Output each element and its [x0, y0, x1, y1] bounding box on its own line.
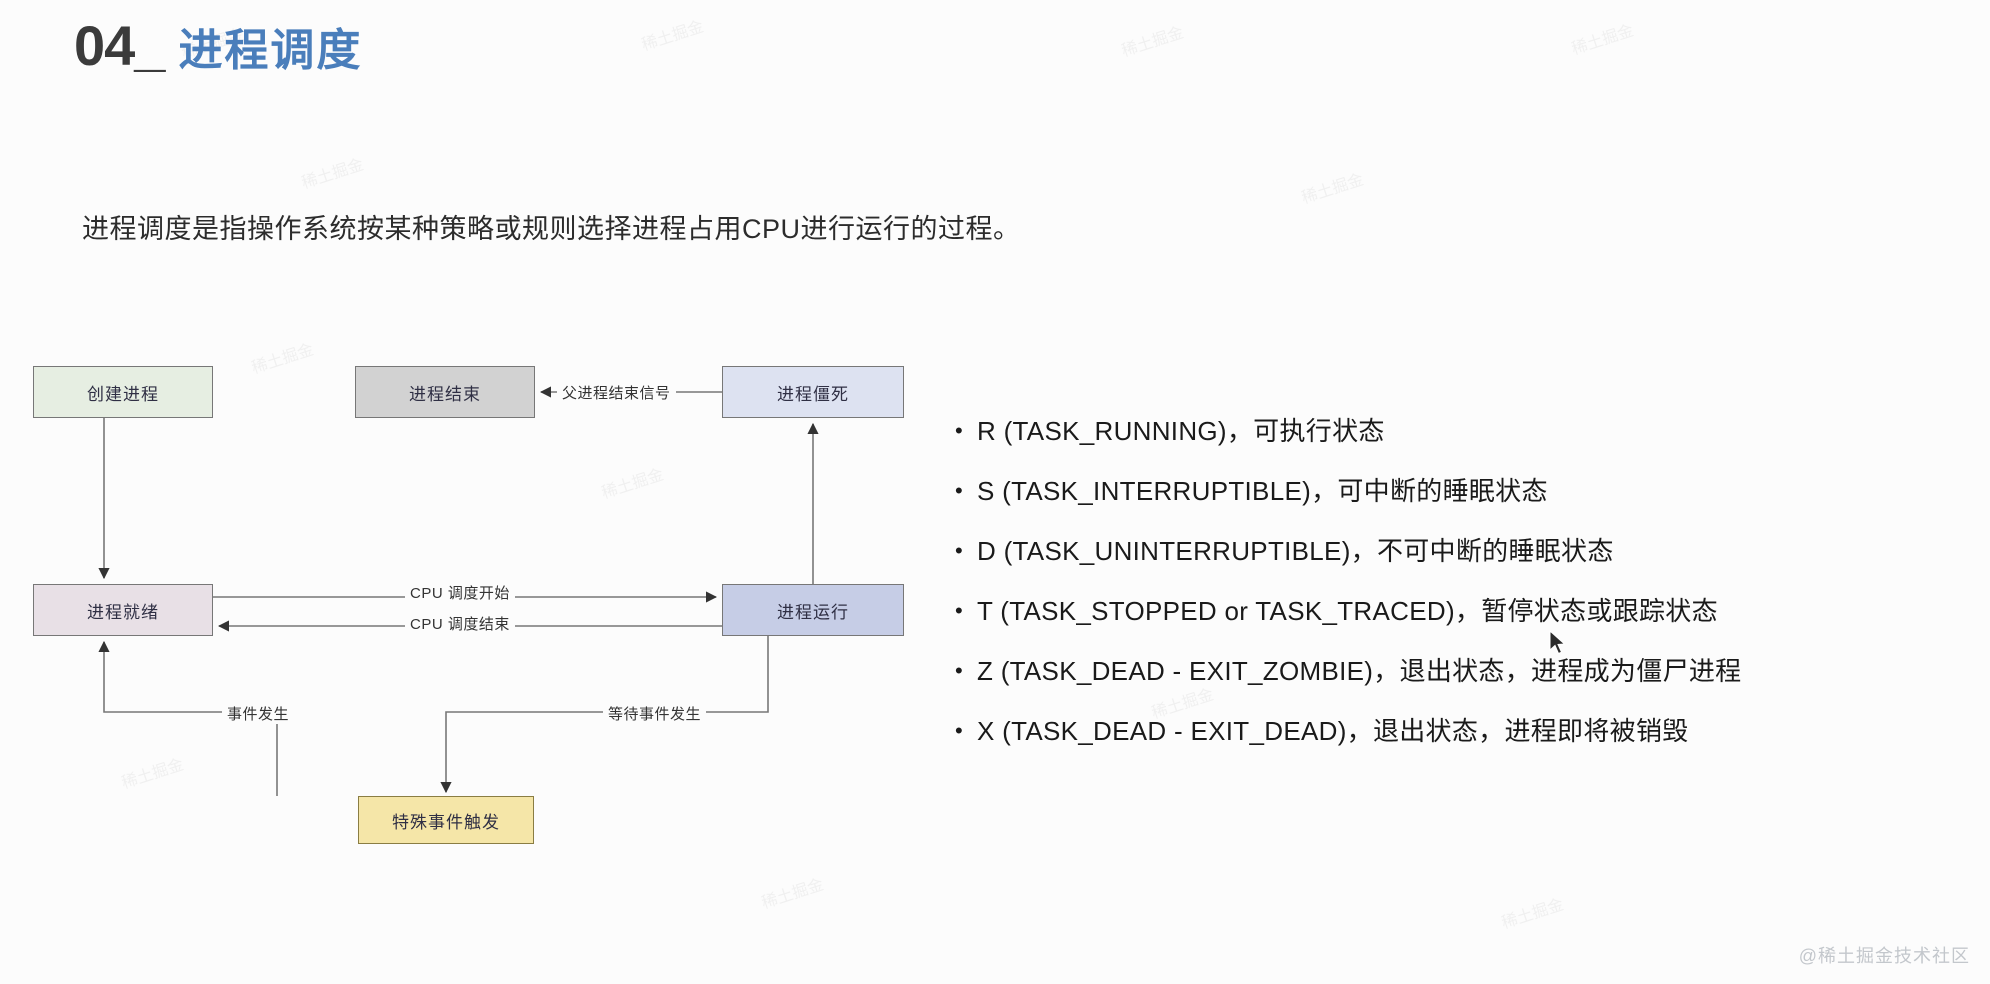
list-item: • S (TASK_INTERRUPTIBLE)，可中断的睡眠状态 — [955, 475, 1965, 507]
node-process-end[interactable]: 进程结束 — [355, 366, 535, 418]
bullet-dot-icon: • — [955, 415, 977, 447]
node-process-ready[interactable]: 进程就绪 — [33, 584, 213, 636]
list-item-label: R (TASK_RUNNING)，可执行状态 — [977, 415, 1385, 447]
edge-label-parent-exit-signal: 父进程结束信号 — [557, 382, 676, 403]
list-item-label: X (TASK_DEAD - EXIT_DEAD)，退出状态，进程即将被销毁 — [977, 715, 1689, 747]
list-item: • R (TASK_RUNNING)，可执行状态 — [955, 415, 1965, 447]
process-state-diagram: 创建进程 进程结束 进程僵死 进程就绪 进程运行 特殊事件触发 父进程结束信号 … — [0, 0, 960, 900]
edge-label-wait-event: 等待事件发生 — [603, 703, 706, 724]
diagram-connectors — [0, 0, 960, 900]
bullet-dot-icon: • — [955, 715, 977, 747]
list-item: • T (TASK_STOPPED or TASK_TRACED)，暂停状态或跟… — [955, 595, 1965, 627]
bullet-dot-icon: • — [955, 475, 977, 507]
node-create-process[interactable]: 创建进程 — [33, 366, 213, 418]
bullet-dot-icon: • — [955, 535, 977, 567]
process-state-list: • R (TASK_RUNNING)，可执行状态 • S (TASK_INTER… — [955, 415, 1965, 775]
bullet-dot-icon: • — [955, 595, 977, 627]
list-item: • Z (TASK_DEAD - EXIT_ZOMBIE)，退出状态，进程成为僵… — [955, 655, 1965, 687]
list-item-label: D (TASK_UNINTERRUPTIBLE)，不可中断的睡眠状态 — [977, 535, 1614, 567]
list-item: • X (TASK_DEAD - EXIT_DEAD)，退出状态，进程即将被销毁 — [955, 715, 1965, 747]
slide-canvas: 稀土掘金 稀土掘金 稀土掘金 稀土掘金 稀土掘金 稀土掘金 稀土掘金 稀土掘金 … — [0, 0, 1990, 984]
edge-label-event-happens: 事件发生 — [222, 703, 294, 724]
list-item-label: T (TASK_STOPPED or TASK_TRACED)，暂停状态或跟踪状… — [977, 595, 1718, 627]
watermark-tile: 稀土掘金 — [1498, 891, 1566, 934]
node-process-running[interactable]: 进程运行 — [722, 584, 904, 636]
node-process-zombie[interactable]: 进程僵死 — [722, 366, 904, 418]
list-item-label: Z (TASK_DEAD - EXIT_ZOMBIE)，退出状态，进程成为僵尸进… — [977, 655, 1741, 687]
watermark-tile: 稀土掘金 — [1568, 17, 1636, 60]
watermark-tile: 稀土掘金 — [1298, 166, 1366, 209]
edge-label-cpu-schedule-start: CPU 调度开始 — [405, 582, 515, 603]
list-item-label: S (TASK_INTERRUPTIBLE)，可中断的睡眠状态 — [977, 475, 1548, 507]
node-special-event[interactable]: 特殊事件触发 — [358, 796, 534, 844]
bullet-dot-icon: • — [955, 655, 977, 687]
edge-label-cpu-schedule-end: CPU 调度结束 — [405, 613, 515, 634]
watermark-corner: @稀土掘金技术社区 — [1799, 942, 1970, 968]
list-item: • D (TASK_UNINTERRUPTIBLE)，不可中断的睡眠状态 — [955, 535, 1965, 567]
watermark-tile: 稀土掘金 — [1118, 19, 1186, 62]
